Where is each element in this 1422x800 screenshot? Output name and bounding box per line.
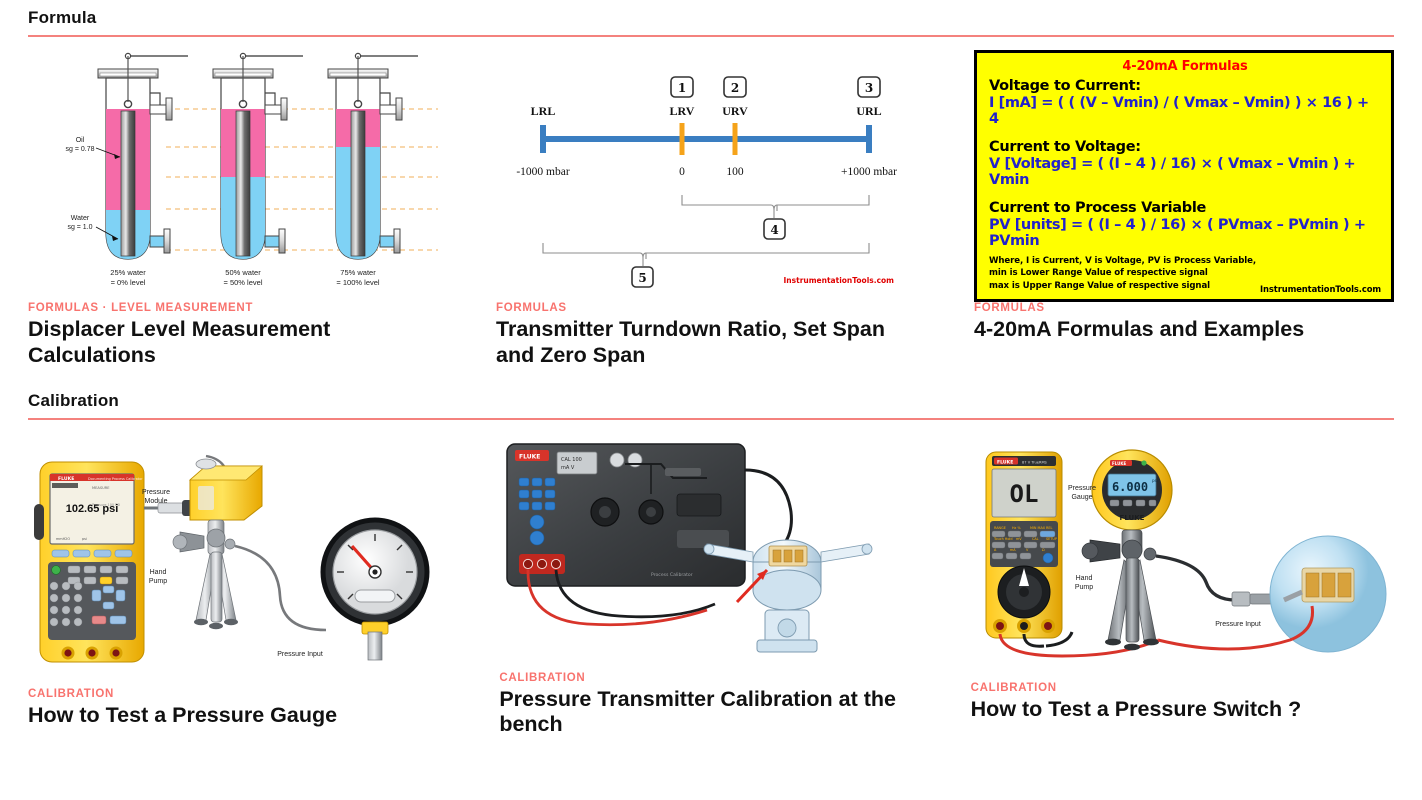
displacer-vessels-svg: 25% water = 0% level: [38, 47, 438, 302]
svg-text:psi: psi: [82, 537, 87, 541]
article-card-bench-calibration[interactable]: FLUKE CAL 100 mA V: [499, 434, 922, 739]
vessel-caption-bottom: = 100% level: [336, 278, 379, 287]
brace-5: [543, 243, 869, 266]
range-scale-svg: 1 2 3 LRL LRV URV URL: [496, 47, 926, 302]
calibrator-display-value: 102.65 psi: [65, 503, 118, 515]
bench-calibration-svg: FLUKE CAL 100 mA V: [501, 434, 921, 672]
hand-pump-label: Hand: [1076, 575, 1093, 582]
hand-pump-label-2: Pump: [1075, 584, 1093, 591]
badge-5: 5: [638, 271, 646, 285]
formula-heading-current-to-voltage: Current to Voltage:: [989, 139, 1381, 155]
formula-equation-current-to-voltage: V [Voltage] = ( (I – 4 ) / 16) × ( Vmax …: [989, 156, 1381, 188]
pressure-module-label: Pressure: [142, 489, 170, 496]
svg-text:RANGE: RANGE: [994, 526, 1006, 530]
svg-text:CAL 100: CAL 100: [561, 457, 582, 463]
pressure-transmitter: [704, 540, 872, 652]
formula-equation-voltage-to-current: I [mA] = ( ( (V – Vmin) / ( Vmax – Vmin)…: [989, 95, 1381, 127]
badge-3: 3: [865, 81, 873, 95]
pressure-switch: [1270, 536, 1386, 652]
scale-label-lrv: LRV: [670, 104, 695, 118]
svg-text:mA V: mA V: [561, 465, 575, 471]
pressure-gauge-label: Pressure: [1068, 485, 1096, 492]
pressure-gauge-test-svg: FLUKE Documenting Process Calibrator MEA…: [30, 434, 450, 682]
card-kicker: Formulas: [974, 302, 1394, 314]
svg-text:Touch Hold: Touch Hold: [993, 537, 1013, 541]
scale-value-lrv: 0: [679, 166, 685, 178]
pressure-gauge-label-2: Gauge: [1072, 494, 1093, 501]
multimeter-display-value: OL: [1010, 480, 1039, 508]
section-title-formula: Formula: [28, 8, 1394, 28]
svg-text:Ω: Ω: [1042, 548, 1045, 552]
vessel-2: 50% water = 50% level: [213, 53, 303, 287]
scale-label-url: URL: [856, 104, 881, 118]
vessel-caption-top: 25% water: [110, 268, 146, 277]
badge-2: 2: [731, 81, 739, 95]
formula-heading-voltage-to-current: Voltage to Current:: [989, 78, 1381, 94]
analog-pressure-gauge: [323, 520, 427, 660]
scale-value-urv: 100: [726, 166, 744, 178]
card-kicker: Calibration: [971, 682, 1394, 694]
article-card-test-pressure-switch[interactable]: FLUKE 87 V TrueRMS OL RANGEHz % MIN MAXR…: [971, 434, 1394, 739]
svg-text:MEASURE: MEASURE: [92, 486, 110, 490]
vessel-caption-bottom: = 50% level: [224, 278, 263, 287]
card-title[interactable]: Transmitter Turndown Ratio, Set Span and…: [496, 317, 926, 369]
svg-text:Oil: Oil: [76, 137, 85, 144]
watermark-instrumentationtools: InstrumentationTools.com: [784, 276, 895, 285]
hand-pump: [173, 520, 238, 629]
pressure-module-label-2: Module: [144, 498, 167, 505]
gauge-display-value: 6.000: [1112, 480, 1148, 494]
formula-equation-current-to-pv: PV [units] = ( (I – 4 ) / 16) × ( PVmax …: [989, 217, 1381, 249]
svg-text:SETUP: SETUP: [1046, 537, 1057, 541]
brace-4: [682, 195, 869, 218]
card-kicker: Calibration: [499, 672, 922, 684]
calibration-card-grid: FLUKE Documenting Process Calibrator MEA…: [28, 434, 1394, 739]
card-title[interactable]: Pressure Transmitter Calibration at the …: [499, 687, 922, 739]
svg-text:87 V TrueRMS: 87 V TrueRMS: [1022, 460, 1048, 464]
section-title-calibration: Calibration: [28, 391, 1394, 411]
formula-card-title: 4-20mA Formulas: [989, 59, 1381, 74]
pressure-input-hose: [1156, 556, 1236, 600]
card-title[interactable]: How to Test a Pressure Switch ?: [971, 697, 1394, 723]
vessel-1: 25% water = 0% level: [98, 53, 188, 287]
pressure-switch-test-svg: FLUKE 87 V TrueRMS OL RANGEHz % MIN MAXR…: [972, 434, 1392, 682]
card-kicker: Calibration: [28, 688, 451, 700]
formula-card-figure: 4-20mA Formulas Voltage to Current: I [m…: [974, 47, 1394, 302]
svg-text:FLUKE: FLUKE: [58, 476, 74, 482]
svg-text:REL: REL: [1046, 526, 1052, 530]
scale-value-lrl: -1000 mbar: [516, 166, 570, 178]
pressure-module: [190, 459, 262, 520]
scale-label-urv: URV: [722, 104, 748, 118]
scale-value-url: +1000 mbar: [841, 166, 897, 178]
article-card-test-pressure-gauge[interactable]: FLUKE Documenting Process Calibrator MEA…: [28, 434, 451, 739]
scale-label-lrl: LRL: [531, 104, 556, 118]
bench-calibration-figure: FLUKE CAL 100 mA V: [499, 434, 922, 672]
pressure-input-hose: [235, 546, 326, 630]
pressure-switch-test-figure: FLUKE 87 V TrueRMS OL RANGEHz % MIN MAXR…: [971, 434, 1394, 682]
svg-text:Hz %: Hz %: [1012, 526, 1021, 530]
formula-card-yellow: 4-20mA Formulas Voltage to Current: I [m…: [974, 50, 1394, 302]
svg-text:mA: mA: [1010, 548, 1016, 552]
svg-text:mV: mV: [1016, 537, 1022, 541]
vessel-3: 75% water = 100% level: [328, 53, 418, 287]
section-divider-formula: [28, 35, 1394, 37]
formula-note-line-1: Where, I is Current, V is Voltage, PV is…: [989, 255, 1381, 267]
vessel-caption-top: 75% water: [340, 268, 376, 277]
digital-pressure-gauge: 6.000 psi FLUKE FLUKE: [1092, 450, 1172, 530]
badge-4: 4: [770, 223, 778, 237]
scale-badges: 1 2 3: [671, 77, 880, 97]
bench-keypad[interactable]: [519, 478, 555, 510]
section-header-formula: Formula: [28, 0, 1394, 37]
svg-text:Water: Water: [71, 215, 90, 222]
svg-text:CAL: CAL: [1032, 537, 1039, 541]
svg-text:sg = 0.78: sg = 0.78: [66, 146, 95, 153]
svg-text:FLUKE: FLUKE: [519, 453, 540, 460]
vessel-caption-bottom: = 0% level: [111, 278, 146, 287]
card-kicker: Formulas: [496, 302, 926, 314]
hand-pump-label: Hand: [149, 569, 166, 576]
card-kicker: Formulas · Level Measurement: [28, 302, 448, 314]
fluke-multimeter: FLUKE 87 V TrueRMS OL RANGEHz % MIN MAXR…: [986, 452, 1062, 638]
calibration-bench-panel: FLUKE CAL 100 mA V: [507, 444, 745, 586]
card-title[interactable]: 4-20mA Formulas and Examples: [974, 317, 1394, 343]
calibrator-terminals: [61, 646, 122, 659]
svg-text:psi: psi: [1152, 478, 1158, 483]
card-title[interactable]: Displacer Level Measurement Calculations: [28, 317, 448, 369]
pressure-input-label: Pressure Input: [277, 651, 323, 658]
multimeter-jacks: [993, 619, 1055, 633]
hand-pump: [1082, 530, 1159, 650]
formula-heading-current-to-pv: Current to Process Variable: [989, 200, 1381, 216]
fluke-calibrator: FLUKE Documenting Process Calibrator MEA…: [34, 462, 144, 662]
vessel-caption-top: 50% water: [225, 268, 261, 277]
card-title[interactable]: How to Test a Pressure Gauge: [28, 703, 451, 729]
svg-text:sg = 1.0: sg = 1.0: [67, 224, 92, 231]
svg-text:mmH2O: mmH2O: [56, 537, 70, 541]
article-card-turndown-ratio[interactable]: 1 2 3 LRL LRV URV URL: [496, 47, 926, 369]
svg-text:FLUKE: FLUKE: [997, 459, 1013, 465]
svg-text:FLUKE: FLUKE: [1112, 461, 1126, 466]
pressure-gauge-test-figure: FLUKE Documenting Process Calibrator MEA…: [28, 434, 451, 682]
pressure-input-label: Pressure Input: [1216, 621, 1262, 628]
svg-text:FLUKE: FLUKE: [1120, 514, 1145, 522]
badge-1: 1: [678, 81, 686, 95]
formula-note-line-2: min is Lower Range Value of respective s…: [989, 267, 1381, 279]
article-card-4-20ma-formulas[interactable]: 4-20mA Formulas Voltage to Current: I [m…: [974, 47, 1394, 369]
formula-card-grid: 25% water = 0% level: [28, 47, 1394, 369]
article-card-displacer-level[interactable]: 25% water = 0% level: [28, 47, 448, 369]
formula-card-brand: InstrumentationTools.com: [1260, 284, 1381, 294]
svg-text:Process Calibrator: Process Calibrator: [651, 572, 693, 578]
svg-text:MIN MAX: MIN MAX: [1030, 526, 1046, 530]
displacer-vessels-figure: 25% water = 0% level: [28, 47, 448, 302]
svg-text:Documenting Process Calibrator: Documenting Process Calibrator: [88, 477, 143, 481]
range-scale-figure: 1 2 3 LRL LRV URV URL: [496, 47, 926, 302]
bench-terminals: [519, 554, 565, 574]
section-divider-calibration: [28, 418, 1394, 420]
section-header-calibration: Calibration: [28, 383, 1394, 420]
article-listing-page: Formula: [0, 0, 1422, 800]
hand-pump-label-2: Pump: [149, 578, 167, 585]
